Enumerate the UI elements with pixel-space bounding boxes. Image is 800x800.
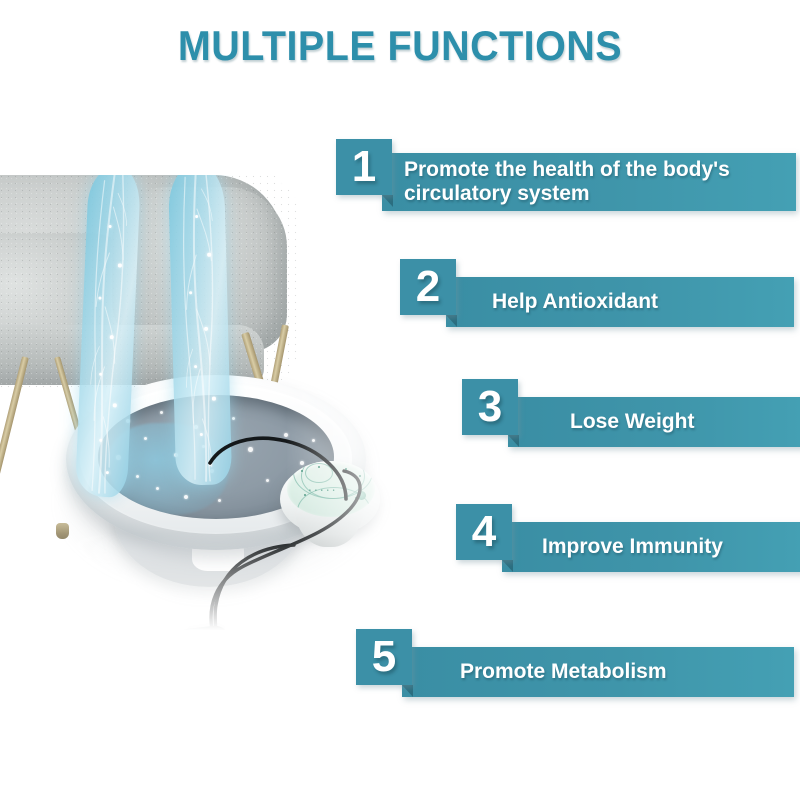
infographic-poster: MULTIPLE FUNCTIONS: [0, 0, 800, 800]
feature-label-5: Promote Metabolism: [402, 660, 667, 684]
feature-list: 1 Promote the health of the body's circu…: [0, 0, 800, 800]
feature-number-3: 3: [462, 379, 518, 435]
feature-bar-3[interactable]: Lose Weight: [508, 397, 800, 447]
feature-bar-1[interactable]: Promote the health of the body's circula…: [382, 153, 796, 211]
feature-label-4: Improve Immunity: [502, 535, 723, 559]
feature-number-1: 1: [336, 139, 392, 195]
feature-number-5: 5: [356, 629, 412, 685]
feature-bar-2[interactable]: Help Antioxidant: [446, 277, 794, 327]
feature-label-3: Lose Weight: [508, 410, 694, 434]
feature-number-4: 4: [456, 504, 512, 560]
feature-bar-5[interactable]: Promote Metabolism: [402, 647, 794, 697]
feature-bar-4[interactable]: Improve Immunity: [502, 522, 800, 572]
feature-number-2: 2: [400, 259, 456, 315]
feature-label-1: Promote the health of the body's circula…: [382, 158, 796, 205]
feature-label-2: Help Antioxidant: [446, 290, 658, 314]
